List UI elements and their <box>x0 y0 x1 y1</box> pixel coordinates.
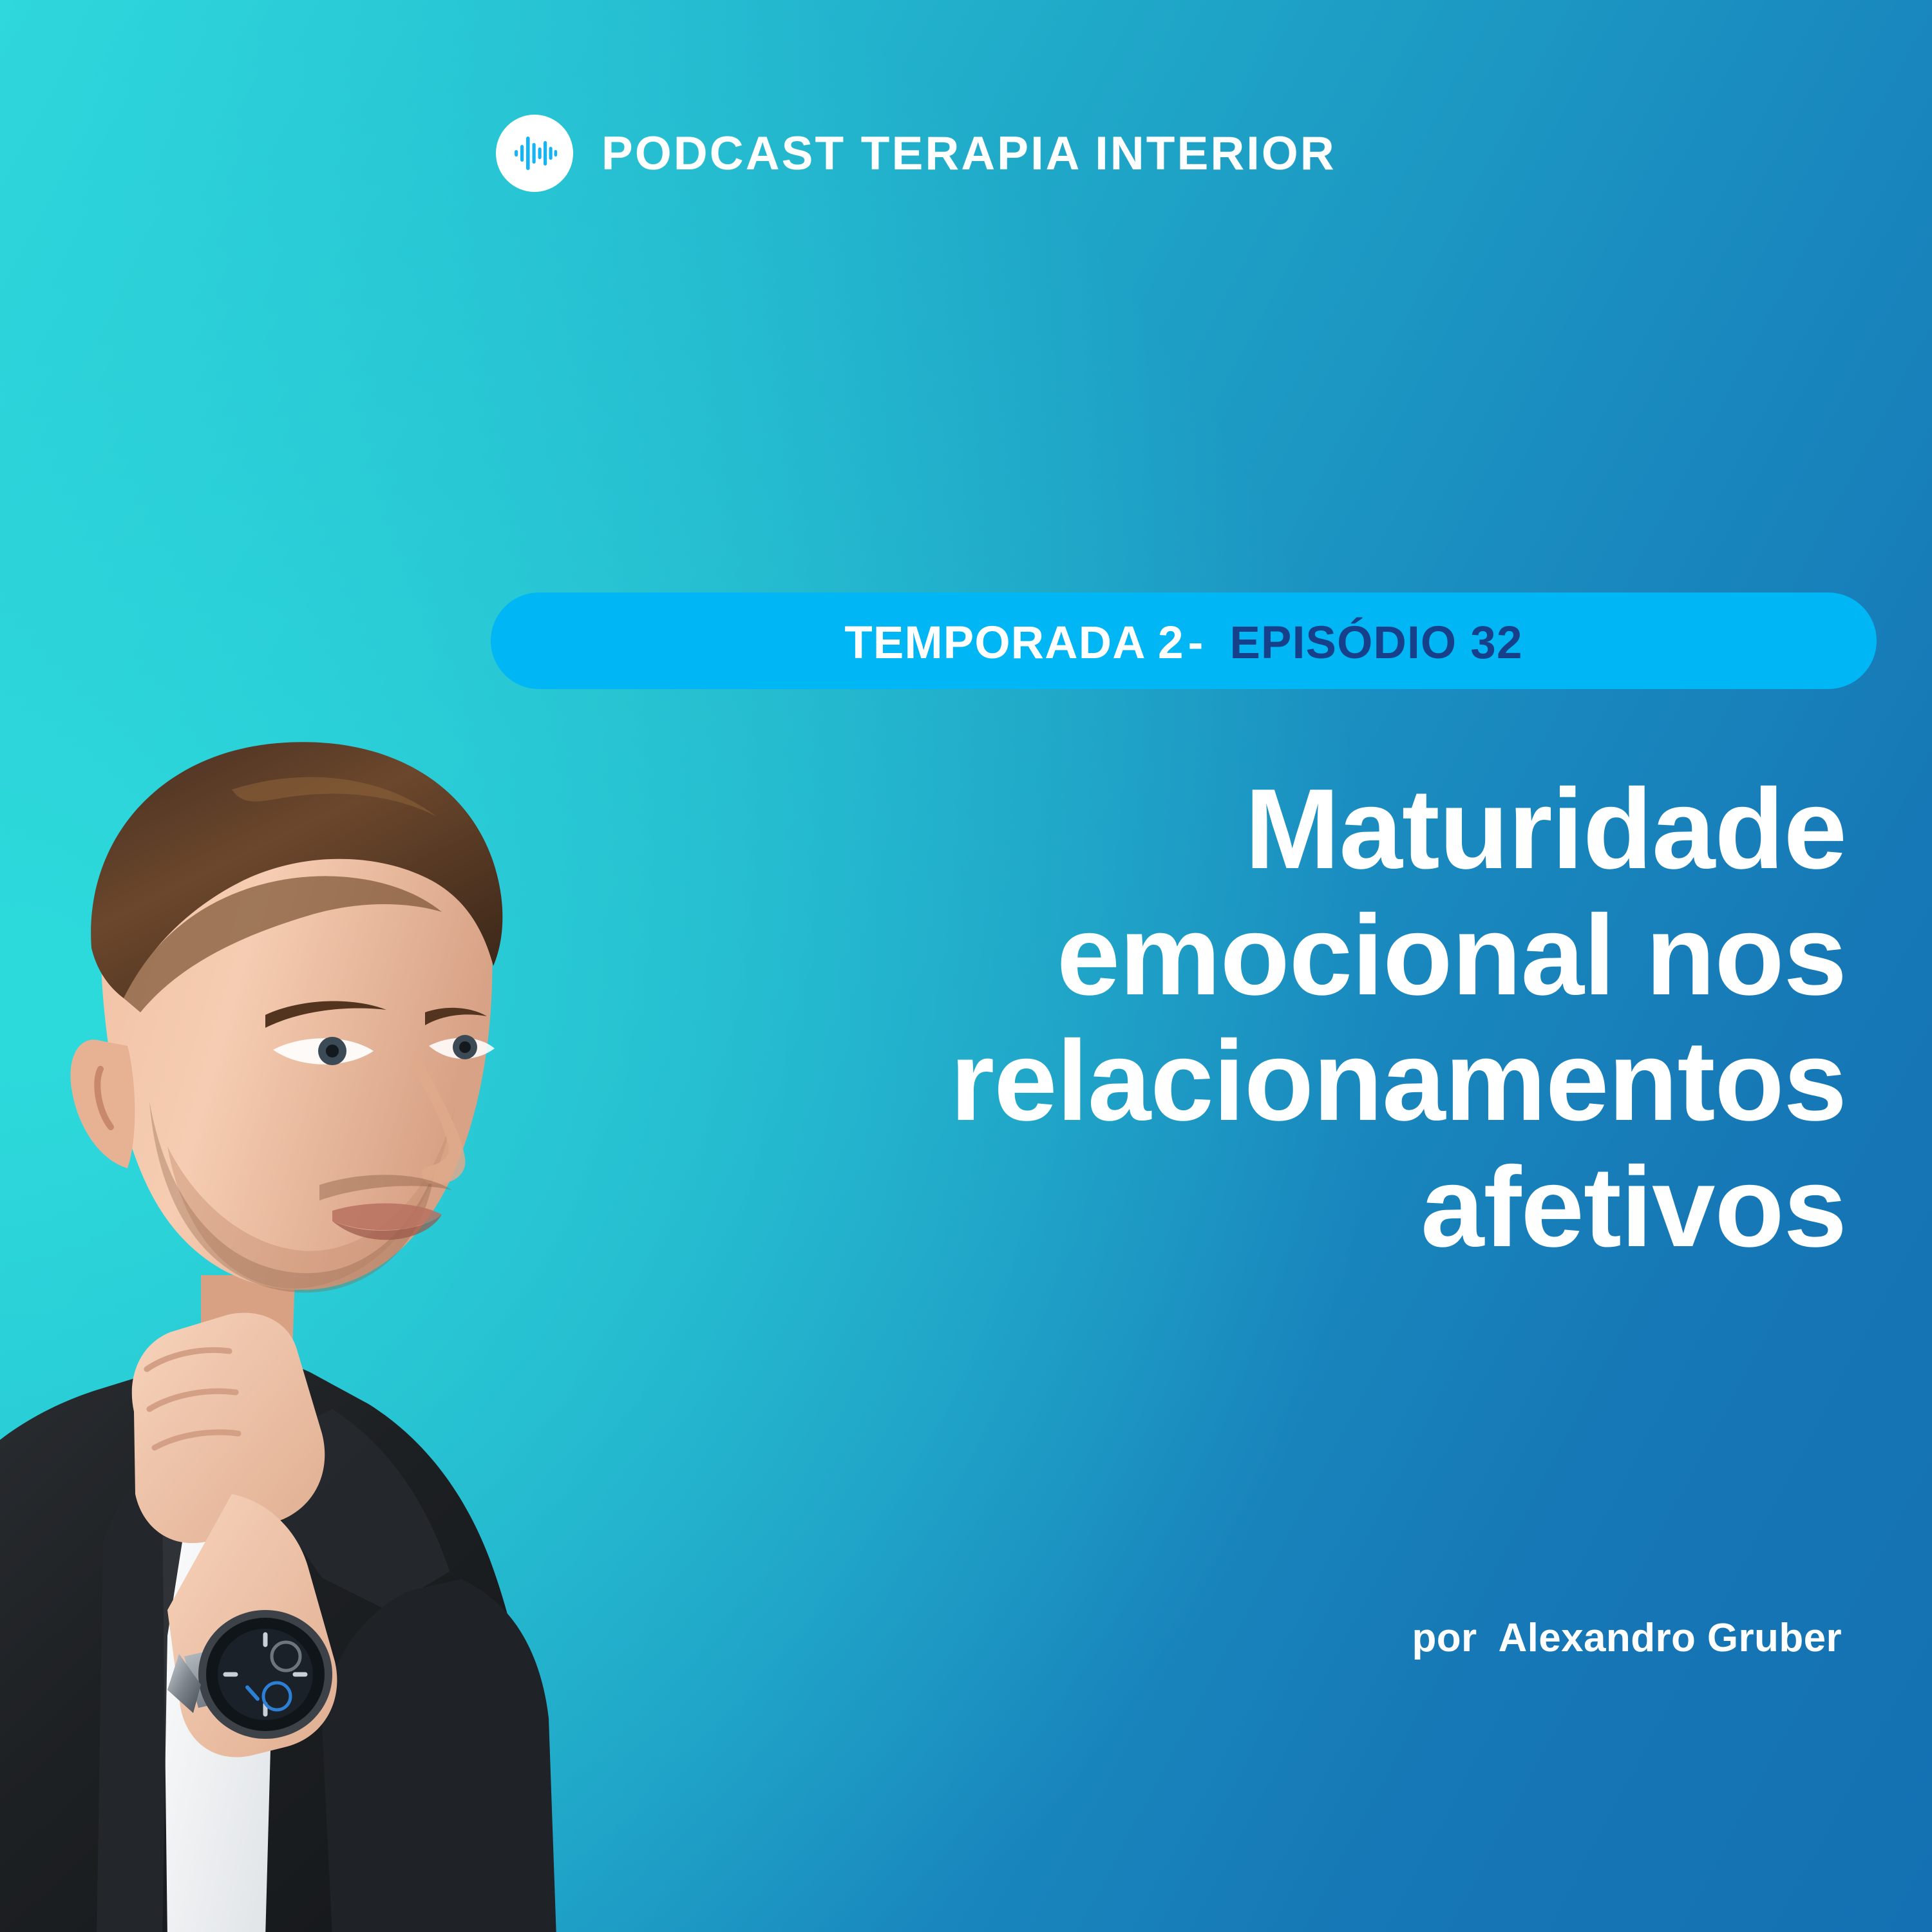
season-label: TEMPORADA 2 <box>844 617 1184 669</box>
episode-badge-text: TEMPORADA 2 - EPISÓDIO 32 <box>844 617 1522 669</box>
brand-title: PODCAST TERAPIA INTERIOR <box>601 130 1336 177</box>
episode-label: EPISÓDIO 32 <box>1208 617 1523 669</box>
badge-separator: - <box>1184 617 1208 669</box>
podcast-cover: PODCAST TERAPIA INTERIOR <box>0 0 1932 1932</box>
episode-title-line-4: afetivos <box>455 1144 1846 1271</box>
episode-title-line-2: emocional nos <box>455 893 1846 1019</box>
audio-waveform-icon <box>496 115 573 192</box>
episode-title: Maturidade emocional nos relacionamentos… <box>455 766 1846 1270</box>
episode-title-line-3: relacionamentos <box>455 1018 1846 1144</box>
episode-title-line-1: Maturidade <box>455 766 1846 893</box>
episode-badge: TEMPORADA 2 - EPISÓDIO 32 <box>491 592 1877 689</box>
brand-header: PODCAST TERAPIA INTERIOR <box>496 115 1336 192</box>
author-byline: por Alexandro Gruber <box>1412 1615 1842 1661</box>
